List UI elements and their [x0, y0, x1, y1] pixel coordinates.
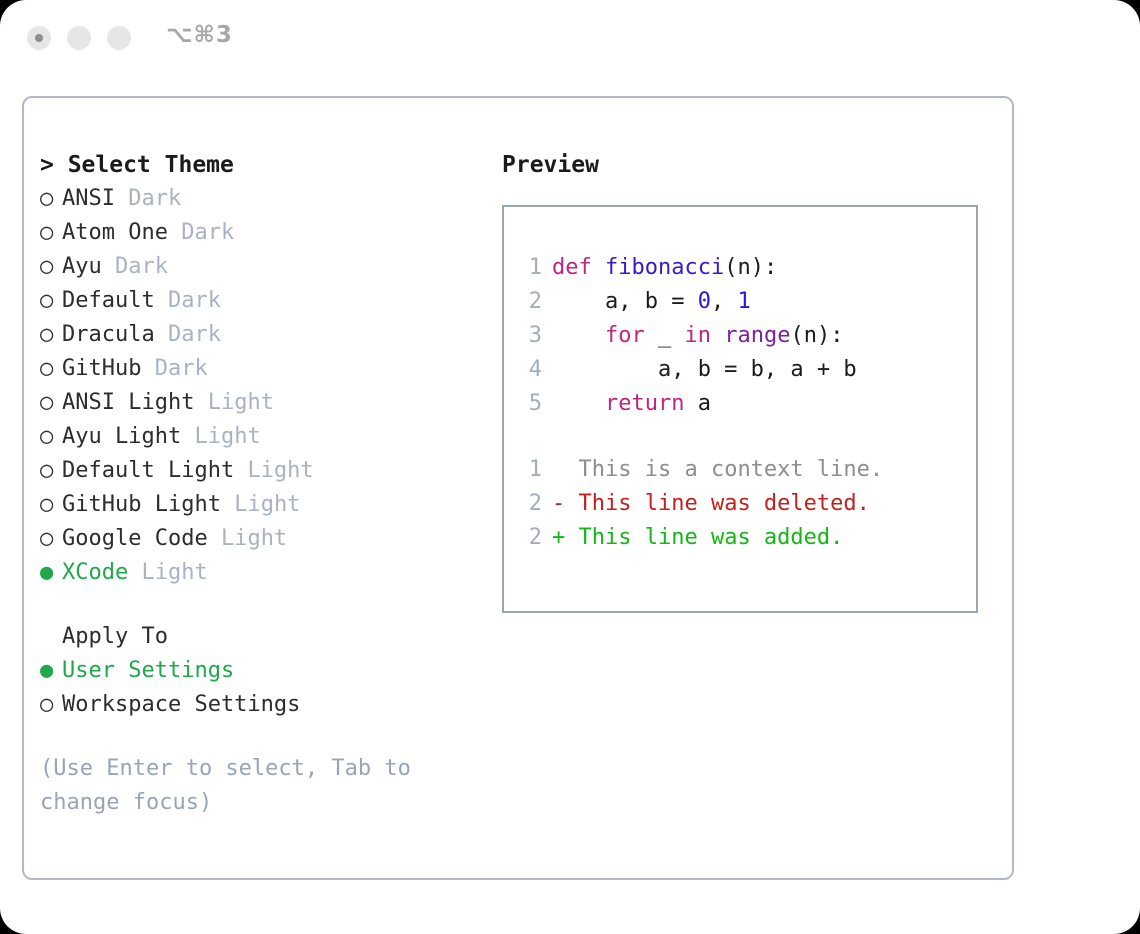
theme-option-label: Dracula — [62, 322, 155, 347]
theme-variant-badge: Light — [247, 458, 313, 483]
label-gap — [168, 220, 181, 245]
code-token: def — [552, 255, 592, 280]
line-number: 2 — [516, 487, 542, 521]
theme-option-label: ANSI — [62, 186, 115, 211]
preview-title: Preview — [502, 148, 1002, 182]
code-token: a — [684, 391, 711, 416]
diff-text: This line was deleted. — [579, 491, 870, 516]
theme-option-label: GitHub Light — [62, 492, 221, 517]
label-gap — [102, 254, 115, 279]
theme-option-dracula[interactable]: ○Dracula Dark — [40, 318, 480, 352]
theme-option-ayu-light[interactable]: ○Ayu Light Light — [40, 420, 480, 454]
label-gap — [194, 390, 207, 415]
radio-unselected-icon: ○ — [40, 454, 62, 488]
syntax-preview-lines: 1def fibonacci(n):2 a, b = 0, 13 for _ i… — [516, 251, 970, 421]
code-token — [592, 255, 605, 280]
theme-option-ansi[interactable]: ○ANSI Dark — [40, 182, 480, 216]
radio-selected-icon: ● — [40, 654, 62, 688]
label-gap — [128, 560, 141, 585]
theme-option-label: Ayu Light — [62, 424, 181, 449]
theme-option-label: XCode — [62, 560, 128, 585]
code-token: fibonacci — [605, 255, 724, 280]
label-gap — [115, 186, 128, 211]
code-token: (n): — [790, 323, 843, 348]
line-number: 1 — [516, 251, 542, 285]
radio-unselected-icon: ○ — [40, 488, 62, 522]
diff-marker: + — [552, 525, 579, 550]
code-token — [711, 323, 724, 348]
radio-unselected-icon: ○ — [40, 318, 62, 352]
section-spacer — [40, 590, 480, 620]
theme-option-atom-one[interactable]: ○Atom One Dark — [40, 216, 480, 250]
theme-variant-badge: Light — [141, 560, 207, 585]
theme-option-ansi-light[interactable]: ○ANSI Light Light — [40, 386, 480, 420]
theme-option-label: GitHub — [62, 356, 141, 381]
theme-option-xcode[interactable]: ●XCode Light — [40, 556, 480, 590]
code-token: a, b = — [552, 289, 698, 314]
theme-variant-badge: Dark — [128, 186, 181, 211]
code-token: range — [724, 323, 790, 348]
code-token: for — [605, 323, 645, 348]
apply-to-option-label: Workspace Settings — [62, 692, 300, 717]
diff-marker: - — [552, 491, 579, 516]
theme-variant-badge: Dark — [181, 220, 234, 245]
code-token: a, b = b, a + b — [552, 357, 857, 382]
code-token: (n): — [724, 255, 777, 280]
diff-line-ctx: 1 This is a context line. — [516, 453, 970, 487]
radio-unselected-icon: ○ — [40, 284, 62, 318]
label-gap — [155, 322, 168, 347]
code-line: 1def fibonacci(n): — [516, 251, 970, 285]
keyboard-hint-text: (Use Enter to select, Tab to change focu… — [40, 752, 446, 820]
code-token: , — [711, 289, 738, 314]
label-gap — [141, 356, 154, 381]
code-line: 5 return a — [516, 387, 970, 421]
line-number: 2 — [516, 521, 542, 555]
radio-unselected-icon: ○ — [40, 216, 62, 250]
app-window: ⌥⌘3 > Select Theme ○ANSI Dark○Atom One D… — [0, 0, 1140, 934]
diff-text: This is a context line. — [579, 457, 884, 482]
label-gap — [208, 526, 221, 551]
theme-option-label: ANSI Light — [62, 390, 194, 415]
maximize-button[interactable] — [107, 26, 131, 50]
diff-preview-lines: 1 This is a context line.2- This line wa… — [516, 453, 970, 555]
radio-unselected-icon: ○ — [40, 420, 62, 454]
theme-variant-badge: Light — [194, 424, 260, 449]
line-number: 1 — [516, 453, 542, 487]
code-token: 1 — [737, 289, 750, 314]
theme-variant-badge: Light — [208, 390, 274, 415]
preview-panel: Preview 1def fibonacci(n):2 a, b = 0, 13… — [502, 148, 1002, 182]
title-bar: ⌥⌘3 — [0, 0, 1140, 78]
theme-option-label: Atom One — [62, 220, 168, 245]
label-gap — [234, 458, 247, 483]
theme-picker-panel: > Select Theme ○ANSI Dark○Atom One Dark○… — [40, 148, 480, 820]
theme-variant-badge: Light — [234, 492, 300, 517]
theme-option-google-code[interactable]: ○Google Code Light — [40, 522, 480, 556]
diff-line-add: 2+ This line was added. — [516, 521, 970, 555]
line-number: 3 — [516, 319, 542, 353]
minimize-button[interactable] — [67, 26, 91, 50]
theme-option-github-light[interactable]: ○GitHub Light Light — [40, 488, 480, 522]
theme-option-label: Ayu — [62, 254, 102, 279]
radio-selected-icon: ● — [40, 556, 62, 590]
line-number: 2 — [516, 285, 542, 319]
theme-option-default[interactable]: ○Default Dark — [40, 284, 480, 318]
code-diff-gap — [516, 421, 970, 453]
label-gap — [181, 424, 194, 449]
radio-unselected-icon: ○ — [40, 688, 62, 722]
code-line: 2 a, b = 0, 1 — [516, 285, 970, 319]
theme-option-label: Default — [62, 288, 155, 313]
hint-spacer — [40, 722, 480, 752]
theme-selector-card: > Select Theme ○ANSI Dark○Atom One Dark○… — [22, 96, 1014, 880]
select-theme-header: > Select Theme — [40, 148, 480, 182]
theme-option-ayu[interactable]: ○Ayu Dark — [40, 250, 480, 284]
theme-option-default-light[interactable]: ○Default Light Light — [40, 454, 480, 488]
code-token — [552, 391, 605, 416]
apply-to-option-workspace-settings[interactable]: ○Workspace Settings — [40, 688, 480, 722]
theme-list[interactable]: ○ANSI Dark○Atom One Dark○Ayu Dark○Defaul… — [40, 182, 480, 590]
line-number: 5 — [516, 387, 542, 421]
keyboard-shortcut-label: ⌥⌘3 — [166, 22, 233, 48]
code-token: 0 — [698, 289, 711, 314]
code-token: in — [684, 323, 711, 348]
theme-option-github[interactable]: ○GitHub Dark — [40, 352, 480, 386]
apply-to-option-label: User Settings — [62, 658, 234, 683]
apply-to-header: Apply To — [40, 620, 480, 654]
radio-unselected-icon: ○ — [40, 182, 62, 216]
code-token — [552, 323, 605, 348]
line-number: 4 — [516, 353, 542, 387]
code-line: 3 for _ in range(n): — [516, 319, 970, 353]
close-button[interactable] — [27, 26, 51, 50]
theme-variant-badge: Dark — [168, 322, 221, 347]
radio-unselected-icon: ○ — [40, 386, 62, 420]
apply-to-list[interactable]: ●User Settings○Workspace Settings — [40, 654, 480, 722]
diff-marker — [552, 457, 579, 482]
diff-text: This line was added. — [579, 525, 844, 550]
theme-variant-badge: Dark — [155, 356, 208, 381]
radio-unselected-icon: ○ — [40, 522, 62, 556]
apply-to-option-user-settings[interactable]: ●User Settings — [40, 654, 480, 688]
theme-option-label: Default Light — [62, 458, 234, 483]
code-line: 4 a, b = b, a + b — [516, 353, 970, 387]
code-token: _ — [645, 323, 685, 348]
theme-variant-badge: Dark — [168, 288, 221, 313]
label-gap — [221, 492, 234, 517]
radio-unselected-icon: ○ — [40, 352, 62, 386]
theme-option-label: Google Code — [62, 526, 208, 551]
label-gap — [155, 288, 168, 313]
code-token: return — [605, 391, 684, 416]
code-sample: 1def fibonacci(n):2 a, b = 0, 13 for _ i… — [516, 251, 970, 555]
theme-variant-badge: Light — [221, 526, 287, 551]
theme-variant-badge: Dark — [115, 254, 168, 279]
diff-line-del: 2- This line was deleted. — [516, 487, 970, 521]
radio-unselected-icon: ○ — [40, 250, 62, 284]
preview-box: 1def fibonacci(n):2 a, b = 0, 13 for _ i… — [502, 205, 978, 613]
